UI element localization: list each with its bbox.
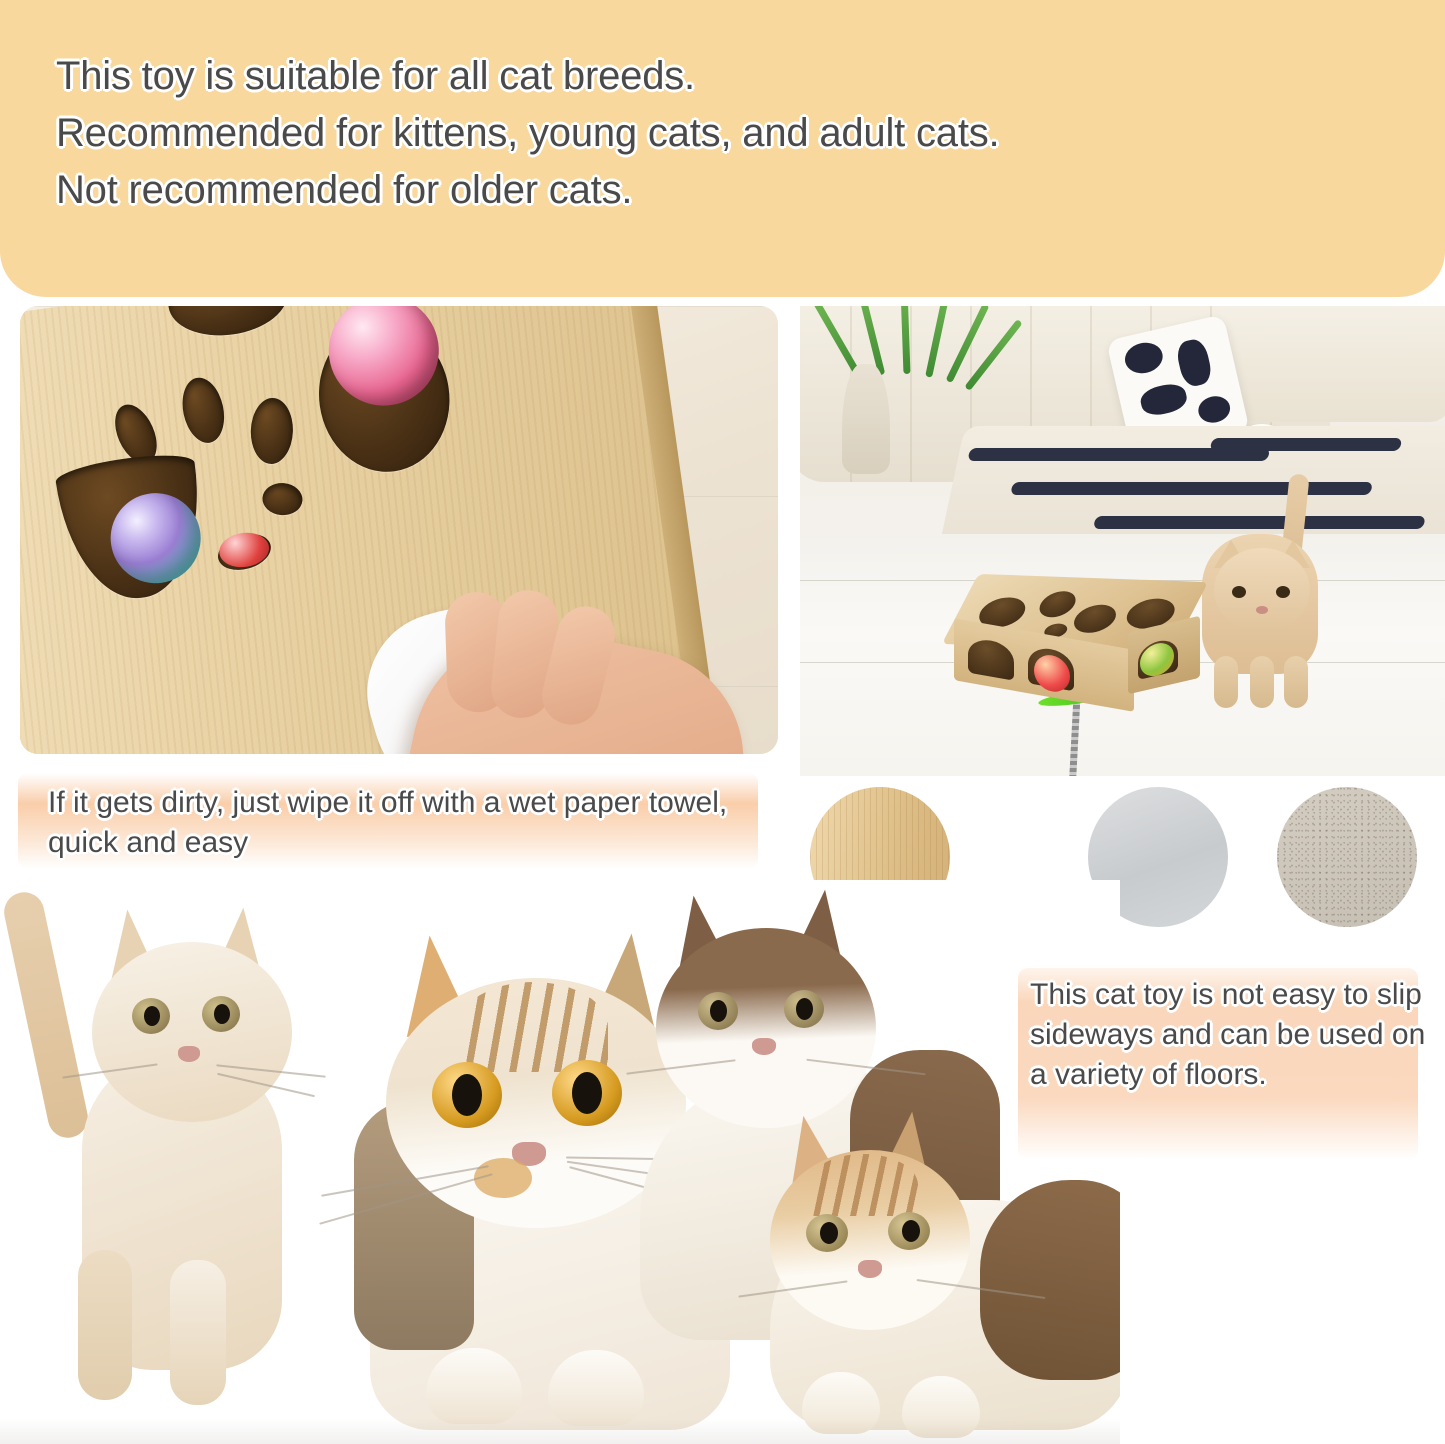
fern-plant bbox=[806, 306, 1026, 426]
vase bbox=[842, 364, 890, 474]
cat-head bbox=[1214, 548, 1310, 632]
floor-caption-text: This cat toy is not easy to slip sideway… bbox=[1030, 975, 1430, 1095]
wooden-cat-toy-box bbox=[950, 578, 1200, 698]
orange-tabby-cat bbox=[1180, 474, 1355, 704]
paw-toe-hole bbox=[250, 397, 294, 464]
wipe-caption-text: If it gets dirty, just wipe it off with … bbox=[48, 783, 748, 863]
cats-group-photo bbox=[0, 880, 1120, 1444]
sofa-right-section bbox=[1220, 306, 1445, 422]
cat-leg bbox=[1284, 656, 1308, 708]
kitten-head bbox=[92, 942, 292, 1122]
header-line-3: Not recommended for older cats. bbox=[56, 162, 1389, 219]
paw-toe-hole bbox=[261, 482, 303, 517]
cream-kitten-standing bbox=[20, 890, 350, 1410]
green-yellow-ball-in-box bbox=[1140, 640, 1174, 680]
header-line-1: This toy is suitable for all cat breeds. bbox=[56, 48, 1389, 105]
kitten-tail bbox=[0, 889, 91, 1142]
wipe-board-photo bbox=[20, 306, 778, 754]
floor-swatch-carpet bbox=[1272, 782, 1422, 932]
cat-leg bbox=[1250, 656, 1274, 708]
ground-shadow bbox=[0, 1418, 1120, 1444]
living-room-photo bbox=[800, 306, 1445, 776]
cat-leg bbox=[1214, 656, 1238, 708]
header-banner: This toy is suitable for all cat breeds.… bbox=[0, 0, 1445, 297]
paw-toe-hole bbox=[177, 374, 230, 447]
kitten-head bbox=[656, 928, 876, 1128]
round-hole-center-top bbox=[164, 306, 293, 343]
header-line-2: Recommended for kittens, young cats, and… bbox=[56, 105, 1389, 162]
